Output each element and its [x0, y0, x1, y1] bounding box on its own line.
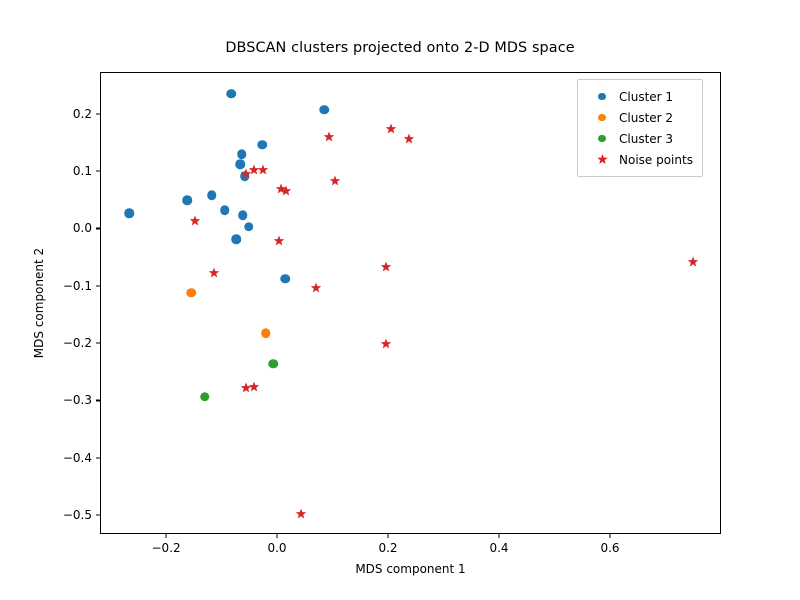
y-axis-label: MDS component 2: [29, 72, 49, 534]
x-tick-label: 0.0: [267, 541, 286, 555]
data-point-noise-points: [240, 169, 251, 180]
y-tick-label: −0.5: [63, 508, 92, 522]
page-title: DBSCAN clusters projected onto 2-D MDS s…: [0, 40, 800, 56]
legend-label: Noise points: [619, 153, 693, 167]
legend-item-cluster-1[interactable]: Cluster 1: [585, 86, 693, 107]
data-point-noise-points: [189, 215, 200, 226]
star-marker-icon: [585, 154, 619, 165]
data-point-cluster-1: [258, 140, 268, 150]
x-tick-label: 0.2: [378, 541, 397, 555]
y-tick-label: −0.4: [63, 451, 92, 465]
legend-item-cluster-3[interactable]: Cluster 3: [585, 128, 693, 149]
circle-marker-icon: [585, 135, 619, 143]
y-tick: [96, 285, 100, 286]
y-tick: [96, 400, 100, 401]
data-point-noise-points: [311, 282, 322, 293]
data-point-noise-points: [688, 256, 699, 267]
y-tick-label: 0.0: [73, 221, 92, 235]
y-tick: [96, 515, 100, 516]
data-point-noise-points: [248, 381, 259, 392]
legend-label: Cluster 3: [619, 132, 673, 146]
data-point-cluster-1: [281, 274, 291, 284]
data-point-noise-points: [295, 509, 306, 520]
x-tick: [610, 534, 611, 538]
data-point-cluster-1: [182, 196, 192, 206]
data-point-cluster-1: [227, 89, 237, 99]
legend-item-noise-points[interactable]: Noise points: [585, 149, 693, 170]
x-tick-label: 0.4: [489, 541, 508, 555]
y-tick: [96, 457, 100, 458]
data-point-cluster-1: [232, 234, 242, 244]
data-point-noise-points: [273, 235, 284, 246]
data-point-cluster-3: [268, 359, 278, 369]
y-tick: [96, 113, 100, 114]
y-tick: [96, 171, 100, 172]
data-point-noise-points: [280, 186, 291, 197]
data-point-noise-points: [404, 133, 415, 144]
x-tick-label: −0.2: [151, 541, 180, 555]
data-point-cluster-3: [200, 392, 210, 402]
figure-canvas: DBSCAN clusters projected onto 2-D MDS s…: [0, 0, 800, 600]
data-point-noise-points: [380, 339, 391, 350]
data-point-noise-points: [380, 261, 391, 272]
y-tick-label: −0.2: [63, 336, 92, 350]
data-point-noise-points: [329, 175, 340, 186]
y-tick-label: 0.2: [73, 107, 92, 121]
data-point-cluster-1: [125, 209, 135, 219]
data-point-noise-points: [258, 165, 269, 176]
data-point-cluster-1: [236, 159, 246, 169]
x-tick: [166, 534, 167, 538]
y-tick: [96, 228, 100, 229]
legend-item-cluster-2[interactable]: Cluster 2: [585, 107, 693, 128]
data-point-cluster-2: [261, 328, 271, 338]
data-point-cluster-1: [207, 190, 217, 200]
legend-label: Cluster 1: [619, 90, 673, 104]
x-tick: [277, 534, 278, 538]
y-tick: [96, 343, 100, 344]
legend-label: Cluster 2: [619, 111, 673, 125]
data-point-cluster-1: [244, 222, 254, 232]
data-point-noise-points: [385, 124, 396, 135]
data-point-cluster-1: [319, 105, 329, 115]
legend: Cluster 1Cluster 2Cluster 3Noise points: [577, 79, 703, 177]
circle-marker-icon: [585, 93, 619, 101]
circle-marker-icon: [585, 114, 619, 122]
data-point-cluster-1: [220, 205, 230, 215]
data-point-noise-points: [208, 268, 219, 279]
data-point-cluster-1: [238, 210, 248, 220]
x-tick-label: 0.6: [600, 541, 619, 555]
x-tick: [499, 534, 500, 538]
data-point-cluster-1: [237, 150, 247, 160]
y-tick-label: 0.1: [73, 164, 92, 178]
y-tick-label: −0.3: [63, 393, 92, 407]
x-tick: [388, 534, 389, 538]
y-tick-label: −0.1: [63, 279, 92, 293]
x-axis-label: MDS component 1: [100, 562, 721, 576]
data-point-cluster-2: [187, 288, 197, 298]
data-point-noise-points: [324, 131, 335, 142]
